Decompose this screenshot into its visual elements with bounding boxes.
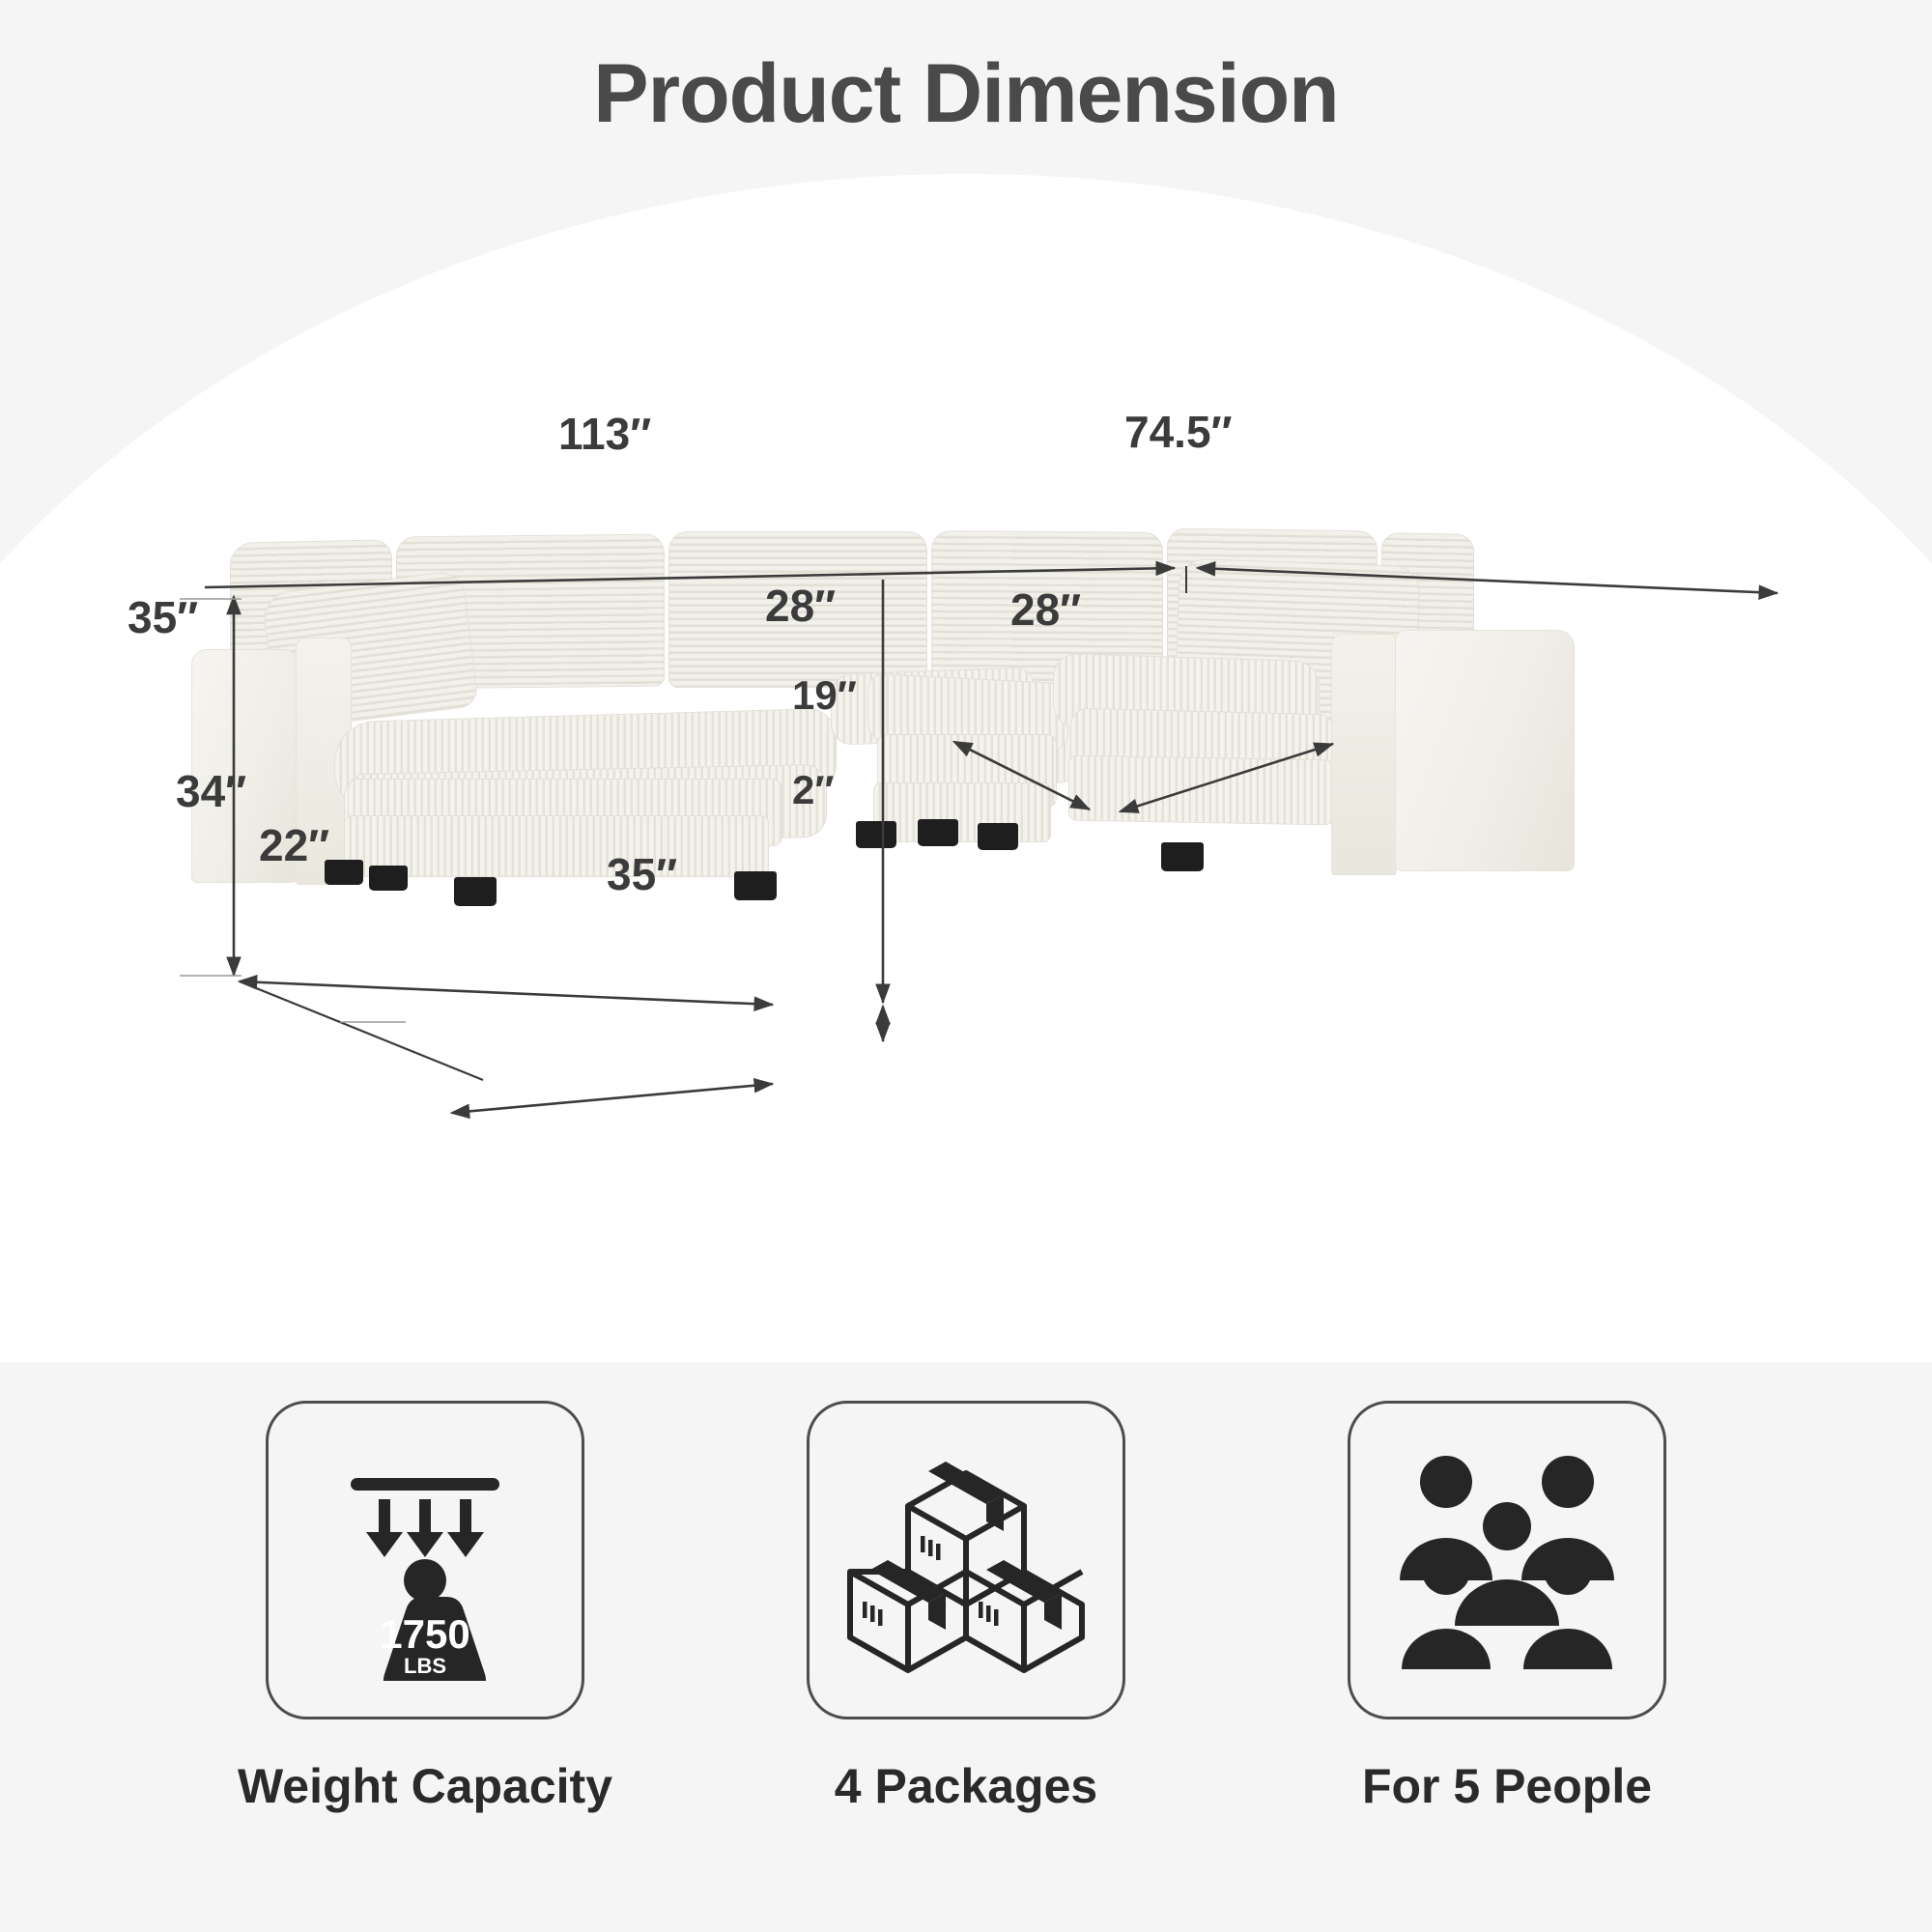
sofa-foot bbox=[454, 877, 497, 906]
feature-packages: 4 Packages bbox=[696, 1362, 1236, 1814]
dimension-label-35-chaise: 35″ bbox=[607, 848, 677, 900]
people-icon-box bbox=[1348, 1401, 1666, 1719]
dimension-label-2-leg: 2″ bbox=[792, 767, 834, 813]
feature-caption-weight-capacity: Weight Capacity bbox=[238, 1758, 612, 1814]
feature-people: For 5 People bbox=[1236, 1362, 1777, 1814]
packages-icon-box bbox=[807, 1401, 1125, 1719]
features-panel: 1750 LBS Weight Capacity bbox=[0, 1362, 1932, 1932]
dimension-label-34-depth: 34″ bbox=[176, 765, 246, 817]
dimension-label-28-left: 28″ bbox=[765, 580, 836, 632]
feature-caption-packages: 4 Packages bbox=[835, 1758, 1097, 1814]
product-dimension-panel: Product Dimension bbox=[0, 0, 1932, 1362]
feature-weight-capacity: 1750 LBS Weight Capacity bbox=[155, 1362, 696, 1814]
sofa-foot bbox=[325, 860, 363, 885]
packages-icon bbox=[844, 1438, 1088, 1682]
sofa-foot bbox=[1161, 842, 1204, 871]
dimension-label-113: 113″ bbox=[558, 408, 651, 460]
sofa-illustration bbox=[155, 541, 1797, 1101]
dimension-label-35-height: 35″ bbox=[128, 591, 198, 643]
sofa-foot bbox=[369, 866, 408, 891]
dimension-label-74-5: 74.5″ bbox=[1124, 406, 1233, 458]
weight-badge-unit: LBS bbox=[404, 1654, 446, 1678]
feature-row: 1750 LBS Weight Capacity bbox=[0, 1362, 1932, 1932]
sofa-foot bbox=[918, 819, 958, 846]
dimension-label-28-right: 28″ bbox=[1010, 583, 1081, 636]
weight-capacity-icon-box: 1750 LBS bbox=[266, 1401, 584, 1719]
sofa-foot bbox=[856, 821, 896, 848]
feature-caption-people: For 5 People bbox=[1362, 1758, 1652, 1814]
page-title: Product Dimension bbox=[0, 46, 1932, 142]
weight-capacity-icon: 1750 LBS bbox=[304, 1439, 546, 1681]
weight-badge-value: 1750 bbox=[380, 1611, 469, 1657]
sofa-foot bbox=[978, 823, 1018, 850]
dimension-label-22-arm: 22″ bbox=[259, 819, 329, 871]
people-icon bbox=[1386, 1439, 1628, 1681]
dimension-label-19-seat: 19″ bbox=[792, 672, 857, 719]
sofa-foot bbox=[734, 871, 777, 900]
